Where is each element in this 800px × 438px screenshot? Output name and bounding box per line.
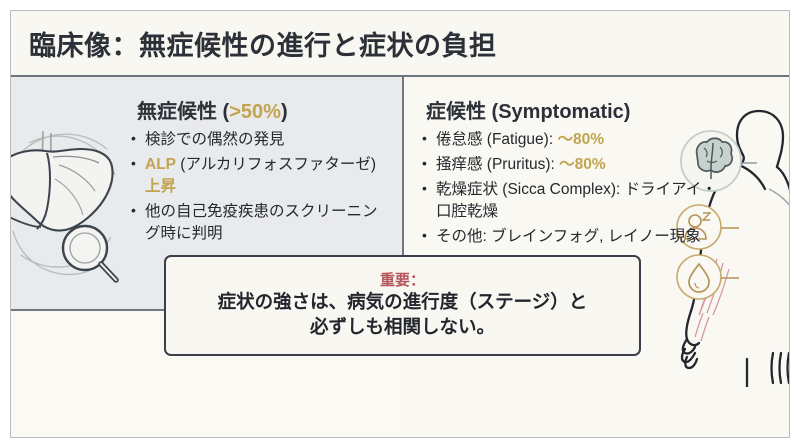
callout-line-1: 症状の強さは、病気の進行度（ステージ）と [218,290,588,314]
bullet-highlight-alp: ALP [145,156,176,173]
callout-line-2: 必ずしも相関しない。 [310,315,495,339]
list-item: 検診での偶然の発見 [131,129,391,151]
list-item: 他の自己免疫疾患のスクリーニング時に判明 [131,201,391,245]
asymptomatic-title-close: ) [281,101,288,123]
slide: 臨床像：無症候性の進行と症状の負担 [0,0,800,438]
column-title-asymptomatic: 無症候性 (>50%) [137,95,288,124]
list-item: 乾燥症状 (Sicca Complex): ドライアイ・口腔乾燥 [422,179,722,223]
list-item: 倦怠感 (Fatigue): ～80% [422,129,722,151]
liver-magnifier-illustration [11,105,136,310]
list-item: その他: ブレインフォグ, レイノー現象 [422,226,722,248]
bullet-text: 倦怠感 (Fatigue): [436,131,557,148]
bullet-value: ～80% [557,131,604,148]
bullet-text: 掻痒感 (Pruritus): [436,156,559,173]
asymptomatic-bullet-list: 検診での偶然の発見 ALP (アルカリフォスファターゼ) 上昇 他の自己免疫疾患… [131,129,391,248]
bullet-text: その他: ブレインフォグ, レイノー現象 [436,228,701,245]
list-item: ALP (アルカリフォスファターゼ) 上昇 [131,154,391,198]
list-item: 掻痒感 (Pruritus): ～80% [422,154,722,176]
bullet-value: ～80% [559,156,606,173]
bullet-text: 検診での偶然の発見 [145,131,285,148]
water-drop-icon [677,255,739,299]
page-title: 臨床像：無症候性の進行と症状の負担 [29,24,497,63]
slide-frame: 臨床像：無症候性の進行と症状の負担 [10,10,790,438]
bullet-highlight-elevated: 上昇 [145,178,176,195]
callout-label: 重要： [380,272,425,289]
important-callout: 重要： 症状の強さは、病気の進行度（ステージ）と 必ずしも相関しない。 [164,255,641,356]
slide-header: 臨床像：無症候性の進行と症状の負担 [11,11,789,77]
bullet-text: 乾燥症状 (Sicca Complex): ドライアイ・口腔乾燥 [436,181,717,220]
asymptomatic-title-accent: >50% [229,101,281,123]
bullet-text: 他の自己免疫疾患のスクリーニング時に判明 [145,203,378,242]
bullet-text: (アルカリフォスファターゼ) [176,156,376,173]
asymptomatic-title-main: 無症候性 ( [137,101,229,123]
symptomatic-bullet-list: 倦怠感 (Fatigue): ～80% 掻痒感 (Pruritus): ～80%… [422,129,722,251]
column-title-symptomatic: 症候性 (Symptomatic) [426,95,630,124]
